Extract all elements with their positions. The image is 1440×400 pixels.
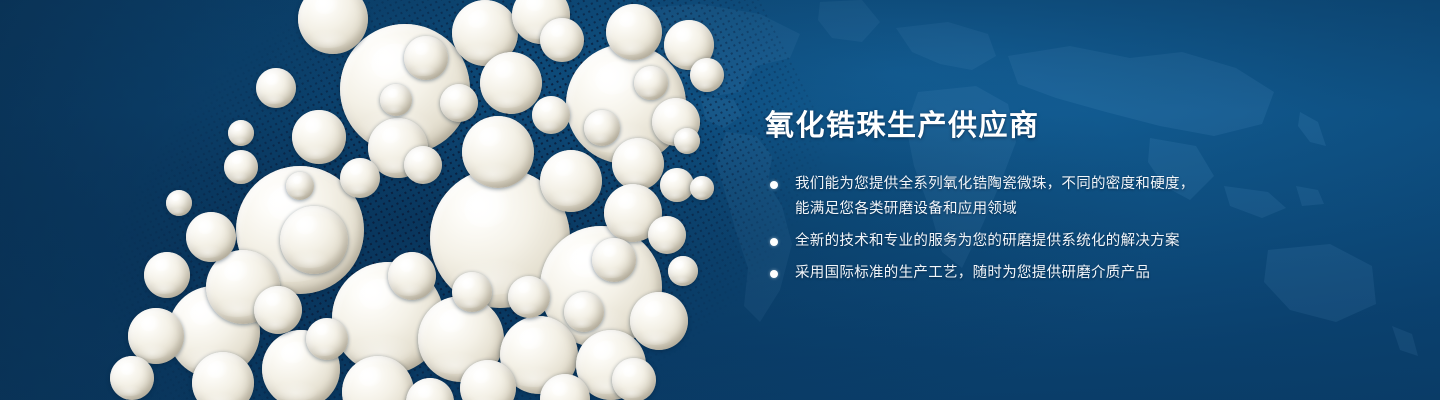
list-item: 采用国际标准的生产工艺，随时为您提供研磨介质产品	[765, 261, 1385, 286]
feature-list: 我们能为您提供全系列氧化锆陶瓷微珠，不同的密度和硬度， 能满足您各类研磨设备和应…	[765, 172, 1385, 286]
hero-banner: 氧化锆珠生产供应商 我们能为您提供全系列氧化锆陶瓷微珠，不同的密度和硬度， 能满…	[0, 0, 1440, 400]
list-item-line: 能满足您各类研磨设备和应用领域	[795, 197, 1385, 222]
bullet-dot-icon	[770, 238, 778, 246]
bullet-dot-icon	[770, 270, 778, 278]
list-item-line: 采用国际标准的生产工艺，随时为您提供研磨介质产品	[795, 261, 1385, 286]
banner-text-content: 氧化锆珠生产供应商 我们能为您提供全系列氧化锆陶瓷微珠，不同的密度和硬度， 能满…	[765, 108, 1385, 293]
bullet-dot-icon	[770, 181, 778, 189]
list-item-line: 我们能为您提供全系列氧化锆陶瓷微珠，不同的密度和硬度，	[795, 172, 1385, 197]
page-title: 氧化锆珠生产供应商	[765, 108, 1385, 144]
list-item-line: 全新的技术和专业的服务为您的研磨提供系统化的解决方案	[795, 229, 1385, 254]
list-item: 全新的技术和专业的服务为您的研磨提供系统化的解决方案	[765, 229, 1385, 254]
list-item: 我们能为您提供全系列氧化锆陶瓷微珠，不同的密度和硬度， 能满足您各类研磨设备和应…	[765, 172, 1385, 222]
